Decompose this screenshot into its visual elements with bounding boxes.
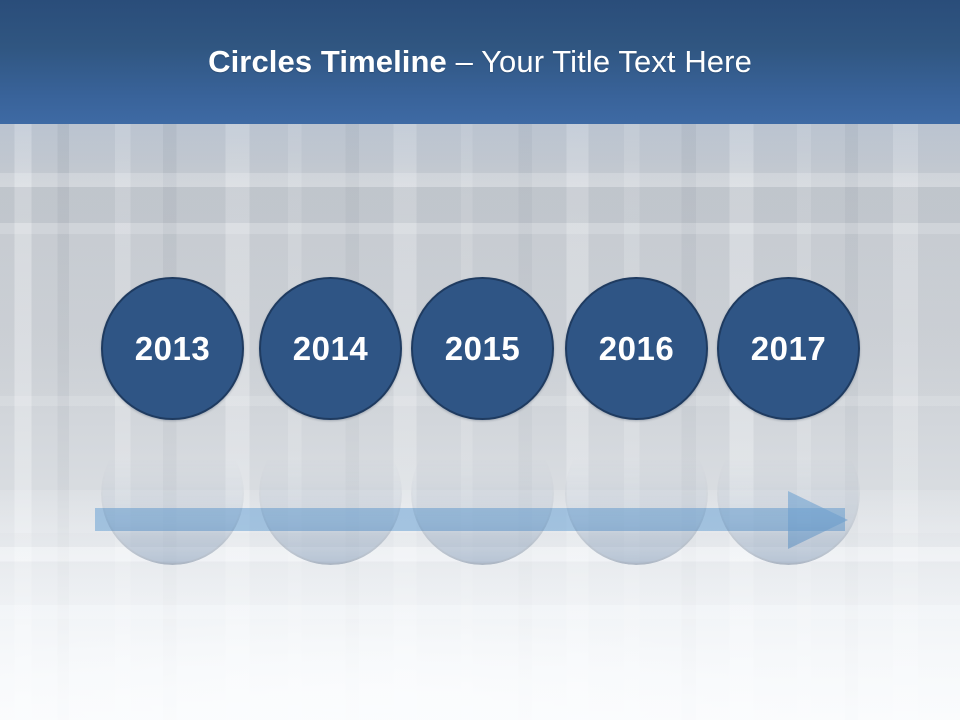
timeline-circle-reflection: [259, 422, 402, 565]
timeline-circle-label: 2015: [445, 332, 520, 365]
timeline-circle-2013[interactable]: 2013: [101, 277, 244, 420]
timeline-circle-label: 2013: [135, 332, 210, 365]
title-bar: Circles Timeline – Your Title Text Here: [0, 0, 960, 124]
timeline-circle-reflection: [411, 422, 554, 565]
timeline-circle-2015[interactable]: 2015: [411, 277, 554, 420]
page-title[interactable]: Circles Timeline – Your Title Text Here: [208, 44, 752, 80]
page-title-bold: Circles Timeline: [208, 44, 447, 79]
timeline-circle-label: 2017: [751, 332, 826, 365]
page-title-rest: – Your Title Text Here: [447, 44, 752, 79]
timeline-circle-label: 2016: [599, 332, 674, 365]
timeline-circle-label: 2014: [293, 332, 368, 365]
timeline-circle-reflection: [101, 422, 244, 565]
timeline-circle-2016[interactable]: 2016: [565, 277, 708, 420]
slide-canvas: Circles Timeline – Your Title Text Here …: [0, 0, 960, 720]
timeline-circle-2014[interactable]: 2014: [259, 277, 402, 420]
timeline-circle-reflection: [717, 422, 860, 565]
timeline-circle-reflection: [565, 422, 708, 565]
timeline-circle-2017[interactable]: 2017: [717, 277, 860, 420]
